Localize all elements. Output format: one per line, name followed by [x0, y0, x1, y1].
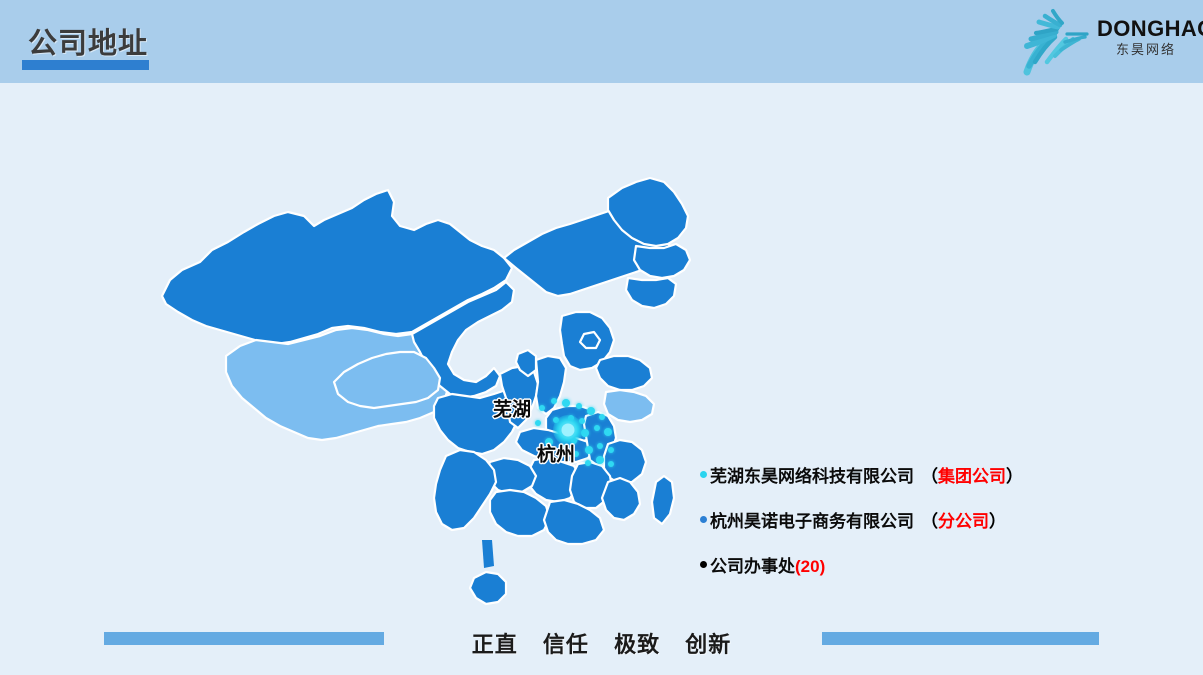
legend-tag: 分公司: [938, 507, 989, 532]
province-yunnan: [434, 450, 496, 530]
province-jiangsu: [604, 390, 654, 422]
legend-company-name: 芜湖东昊网络科技有限公司: [710, 462, 914, 487]
province-shandong: [596, 356, 652, 390]
province-taiwan: [652, 476, 674, 524]
slide-header: 公司地址: [0, 0, 1203, 83]
province-shanxi: [536, 356, 566, 414]
legend-item-offices: 公司办事处(20): [700, 552, 1120, 577]
slogan-word: 正直: [472, 632, 518, 657]
legend-paren-close: ）: [989, 507, 1006, 532]
legend-paren-open: （: [921, 507, 938, 532]
legend-company-name: 杭州昊诺电子商务有限公司: [710, 507, 914, 532]
province-fujian: [602, 478, 640, 520]
slogan-word: 创新: [685, 632, 731, 657]
province-liaoning: [626, 278, 676, 308]
footer-slogan: 正直 信任 极致 创新: [0, 627, 1203, 659]
slogan-word: 极致: [614, 632, 660, 657]
china-map-svg: [108, 120, 728, 610]
province-beijing: [580, 332, 600, 348]
slide-company-address: 公司地址: [0, 0, 1203, 675]
province-jilin: [634, 244, 690, 278]
legend-paren-open: （: [921, 462, 938, 487]
logo-text-block: DONGHAO 东昊网络: [1097, 17, 1195, 59]
legend: 芜湖东昊网络科技有限公司 （集团公司） 杭州昊诺电子商务有限公司 （分公司） 公…: [700, 462, 1120, 577]
donghao-fan-logo-icon: [1017, 6, 1093, 76]
page-title: 公司地址: [28, 20, 148, 62]
legend-office-count: (20): [795, 557, 825, 577]
slogan-word: 信任: [543, 632, 589, 657]
strait-link: [482, 540, 494, 568]
legend-tag: 集团公司: [938, 462, 1006, 487]
legend-company-name: 公司办事处: [710, 552, 795, 577]
legend-bullet-icon: [700, 471, 707, 478]
legend-item-branch-company: 杭州昊诺电子商务有限公司 （分公司）: [700, 507, 1120, 532]
china-map-container: 芜湖 杭州: [108, 120, 728, 610]
legend-bullet-icon: [700, 561, 707, 568]
province-hainan: [470, 572, 506, 604]
legend-item-group-company: 芜湖东昊网络科技有限公司 （集团公司）: [700, 462, 1120, 487]
logo-name: DONGHAO: [1097, 17, 1195, 41]
title-underline: [22, 60, 149, 70]
company-logo: DONGHAO 东昊网络: [1005, 4, 1195, 78]
legend-bullet-icon: [700, 516, 707, 523]
legend-paren-close: ）: [1006, 462, 1023, 487]
logo-subtitle: 东昊网络: [1097, 41, 1195, 59]
